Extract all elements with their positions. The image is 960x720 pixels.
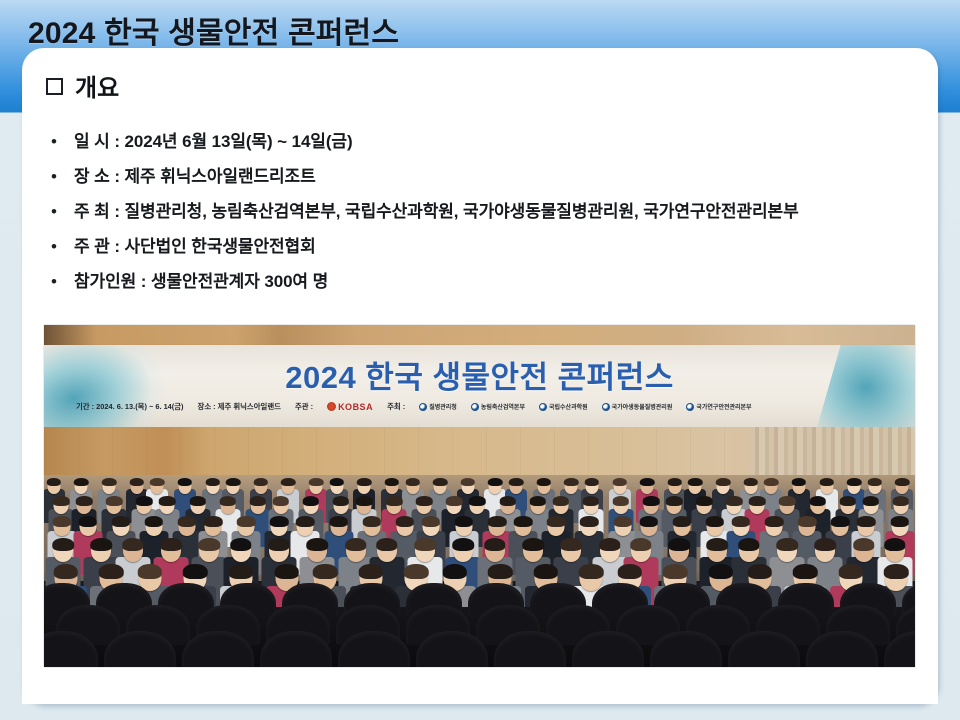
organizer-logo-3: 국가야생동물질병관리원 [602, 402, 673, 411]
bullet-dot-icon: • [46, 159, 74, 194]
organizer-label: 질병관리청 [429, 402, 457, 411]
banner-organizer-label: 주최 : [387, 401, 405, 412]
government-emblem-icon [471, 403, 479, 411]
banner-title: 2024 한국 생물안전 콘퍼런스 [44, 352, 915, 397]
square-outline-icon [46, 78, 63, 95]
content-panel: 개요 • 일 시 : 2024년 6월 13일(목) ~ 14일(금) • 장 … [22, 48, 938, 704]
government-emblem-icon [686, 403, 694, 411]
list-item-label: 주 최 : 질병관리청, 농림축산검역본부, 국립수산과학원, 국가야생동물질병… [74, 194, 926, 229]
organizer-label: 농림축산검역본부 [481, 402, 525, 411]
list-item-label: 참가인원 : 생물안전관계자 300여 명 [74, 264, 926, 299]
biohazard-icon [327, 402, 336, 411]
organizer-logo-0: 질병관리청 [419, 402, 457, 411]
government-emblem-icon [602, 403, 610, 411]
list-item: • 주 최 : 질병관리청, 농림축산검역본부, 국립수산과학원, 국가야생동물… [46, 194, 926, 229]
organizer-label: 국가연구안전관리본부 [696, 402, 751, 411]
organizer-label: 국립수산과학원 [549, 402, 588, 411]
list-item-label: 일 시 : 2024년 6월 13일(목) ~ 14일(금) [74, 124, 926, 159]
slide: 2024 한국 생물안전 콘퍼런스 개요 • 일 시 : 2024년 6월 13… [0, 0, 960, 720]
banner-subtitle-row: 기간 : 2024. 6. 13.(목) ~ 6. 14(금) 장소 : 제주 … [76, 401, 901, 412]
conference-group-photo: 2024 한국 생물안전 콘퍼런스 기간 : 2024. 6. 13.(목) ~… [44, 325, 915, 667]
list-item: • 일 시 : 2024년 6월 13일(목) ~ 14일(금) [46, 124, 926, 159]
list-item: • 주 관 : 사단법인 한국생물안전협회 [46, 229, 926, 264]
banner-host-label: 주관 : [295, 401, 313, 412]
list-item: • 참가인원 : 생물안전관계자 300여 명 [46, 264, 926, 299]
section-heading-label: 개요 [75, 68, 119, 103]
government-emblem-icon [419, 403, 427, 411]
bullet-dot-icon: • [46, 229, 74, 264]
organizer-logo-2: 국립수산과학원 [539, 402, 588, 411]
section-heading: 개요 [46, 68, 119, 103]
overview-bullet-list: • 일 시 : 2024년 6월 13일(목) ~ 14일(금) • 장 소 :… [46, 124, 926, 299]
slide-title: 2024 한국 생물안전 콘퍼런스 [28, 8, 399, 52]
bullet-dot-icon: • [46, 124, 74, 159]
kobsa-logo: KOBSA [327, 402, 373, 412]
bullet-dot-icon: • [46, 264, 74, 299]
kobsa-logo-label: KOBSA [338, 402, 373, 412]
list-item: • 장 소 : 제주 휘닉스아일랜드리조트 [46, 159, 926, 194]
organizer-logo-1: 농림축산검역본부 [471, 402, 525, 411]
banner-venue-label: 장소 : 제주 휘닉스아일랜드 [198, 401, 281, 412]
list-item-label: 장 소 : 제주 휘닉스아일랜드리조트 [74, 159, 926, 194]
audience-chairs [44, 581, 915, 667]
banner-period-label: 기간 : 2024. 6. 13.(목) ~ 6. 14(금) [76, 401, 184, 412]
list-item-label: 주 관 : 사단법인 한국생물안전협회 [74, 229, 926, 264]
government-emblem-icon [539, 403, 547, 411]
panel-bottom-padding [22, 668, 938, 704]
organizer-logo-4: 국가연구안전관리본부 [686, 402, 751, 411]
bullet-dot-icon: • [46, 194, 74, 229]
auditorium-wall-top [44, 325, 915, 345]
conference-banner: 2024 한국 생물안전 콘퍼런스 기간 : 2024. 6. 13.(목) ~… [44, 345, 915, 427]
organizer-label: 국가야생동물질병관리원 [612, 402, 673, 411]
